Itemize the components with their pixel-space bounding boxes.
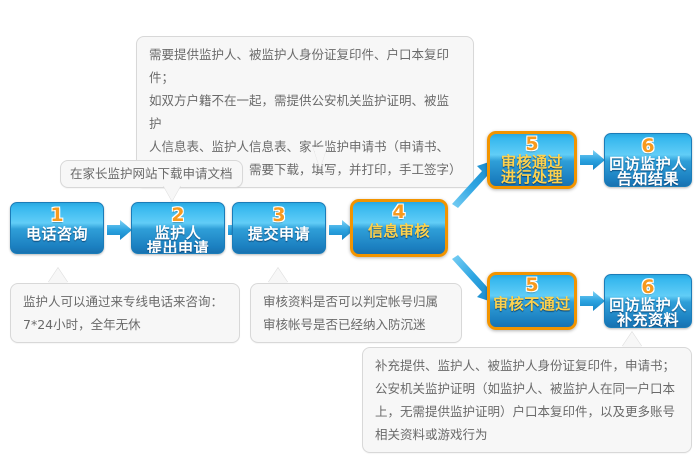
callout-hotline: 监护人可以通过来专线电话来咨询： 7*24小时，全年无休 — [10, 283, 240, 343]
callout-hotline-tail — [48, 268, 68, 283]
step-box-4[interactable]: 4 信息审核 — [350, 199, 448, 257]
step-5-rejected-number: 5 — [525, 276, 538, 295]
step-5-approved-label: 审核通过 进行处理 — [501, 155, 563, 185]
callout-supplement-requirements: 补充提供、监护人、被监护人身份证复印件，申请书； 公安机关监护证明（如监护人、被… — [362, 347, 692, 453]
step-2-label: 监护人 提出申请 — [147, 226, 209, 254]
step-3-number: 3 — [272, 206, 285, 225]
arrow-approved-to-notify — [580, 149, 606, 171]
arrow-rejected-to-supplement — [580, 290, 606, 312]
callout-top-requirements-tail — [313, 147, 327, 169]
step-2-number: 2 — [171, 206, 184, 225]
step-box-6-supplement[interactable]: 6 回访监护人 补充资料 — [604, 274, 692, 328]
arrow-step1-to-step2 — [107, 219, 133, 241]
step-6-notify-label: 回访监护人 告知结果 — [609, 157, 687, 187]
step-6-supplement-number: 6 — [641, 278, 654, 297]
step-6-supplement-label: 回访监护人 补充资料 — [609, 298, 687, 328]
flowchart-canvas: 需要提供监护人、被监护人身份证复印件、户口本复印件； 如双方户籍不在一起，需提供… — [0, 0, 700, 470]
step-1-number: 1 — [50, 206, 63, 225]
step-6-notify-number: 6 — [641, 137, 654, 156]
step-box-5-approved[interactable]: 5 审核通过 进行处理 — [487, 131, 577, 189]
step-3-label: 提交申请 — [248, 226, 310, 242]
step-box-2[interactable]: 2 监护人 提出申请 — [131, 202, 225, 254]
step-5-approved-number: 5 — [525, 135, 538, 154]
callout-review-criteria-tail — [268, 268, 288, 283]
step-box-5-rejected[interactable]: 5 审核不通过 — [487, 272, 577, 330]
callout-download-docs: 在家长监护网站下载申请文档 — [60, 160, 243, 188]
callout-review-criteria: 审核资料是否可以判定帐号归属 审核帐号是否已经纳入防沉迷 — [250, 283, 462, 343]
step-box-6-notify[interactable]: 6 回访监护人 告知结果 — [604, 133, 692, 187]
step-1-label: 电话咨询 — [26, 226, 88, 242]
step-4-number: 4 — [392, 203, 405, 222]
step-box-3[interactable]: 3 提交申请 — [232, 202, 326, 254]
callout-supplement-requirements-tail — [622, 332, 642, 347]
callout-download-docs-tail — [163, 185, 181, 201]
step-box-1[interactable]: 1 电话咨询 — [10, 202, 104, 254]
step-5-rejected-label: 审核不通过 — [493, 296, 571, 312]
step-4-label: 信息审核 — [368, 223, 430, 239]
